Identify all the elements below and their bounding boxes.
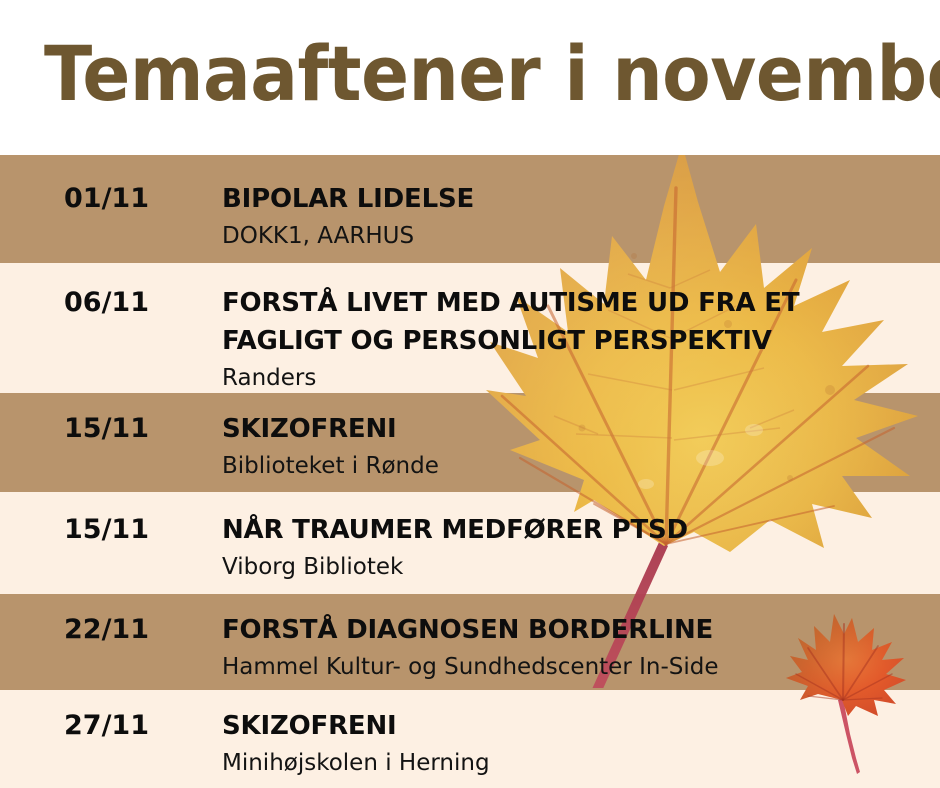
event-title: BIPOLAR LIDELSE xyxy=(222,180,922,218)
event-date: 15/11 xyxy=(64,413,149,444)
event-venue: Hammel Kultur- og Sundhedscenter In-Side xyxy=(222,651,922,684)
event-venue: DOKK1, AARHUS xyxy=(222,220,922,253)
event-date: 06/11 xyxy=(64,287,149,318)
event-row[interactable]: 06/11 FORSTÅ LIVET MED AUTISME UD FRA ET… xyxy=(0,263,940,393)
event-venue: Randers xyxy=(222,362,922,395)
event-row[interactable]: 27/11 SKIZOFRENI Minihøjskolen i Herning xyxy=(0,690,940,788)
event-body: SKIZOFRENI Minihøjskolen i Herning xyxy=(222,707,922,780)
poster-canvas: Temaaftener i november 01/11 BIPOLAR LID… xyxy=(0,0,940,788)
title-area: Temaaftener i november xyxy=(0,0,940,155)
event-body: NÅR TRAUMER MEDFØRER PTSD Viborg Bibliot… xyxy=(222,511,922,584)
event-body: BIPOLAR LIDELSE DOKK1, AARHUS xyxy=(222,180,922,253)
event-venue: Viborg Bibliotek xyxy=(222,551,922,584)
event-date: 15/11 xyxy=(64,514,149,545)
event-title: NÅR TRAUMER MEDFØRER PTSD xyxy=(222,511,922,549)
event-title: SKIZOFRENI xyxy=(222,707,922,745)
event-body: SKIZOFRENI Biblioteket i Rønde xyxy=(222,410,922,483)
event-row[interactable]: 01/11 BIPOLAR LIDELSE DOKK1, AARHUS xyxy=(0,155,940,263)
event-body: FORSTÅ LIVET MED AUTISME UD FRA ET FAGLI… xyxy=(222,284,922,395)
event-date: 27/11 xyxy=(64,710,149,741)
event-venue: Biblioteket i Rønde xyxy=(222,450,922,483)
event-row[interactable]: 15/11 SKIZOFRENI Biblioteket i Rønde xyxy=(0,393,940,492)
event-title: FORSTÅ DIAGNOSEN BORDERLINE xyxy=(222,611,922,649)
event-title-line-2: FAGLIGT OG PERSONLIGT PERSPEKTIV xyxy=(222,322,922,360)
event-body: FORSTÅ DIAGNOSEN BORDERLINE Hammel Kultu… xyxy=(222,611,922,684)
event-title: FORSTÅ LIVET MED AUTISME UD FRA ET xyxy=(222,284,922,322)
page-title: Temaaftener i november xyxy=(44,26,940,122)
event-date: 01/11 xyxy=(64,183,149,214)
event-row[interactable]: 22/11 FORSTÅ DIAGNOSEN BORDERLINE Hammel… xyxy=(0,594,940,690)
event-venue: Minihøjskolen i Herning xyxy=(222,747,922,780)
event-row[interactable]: 15/11 NÅR TRAUMER MEDFØRER PTSD Viborg B… xyxy=(0,492,940,594)
event-date: 22/11 xyxy=(64,614,149,645)
event-title: SKIZOFRENI xyxy=(222,410,922,448)
